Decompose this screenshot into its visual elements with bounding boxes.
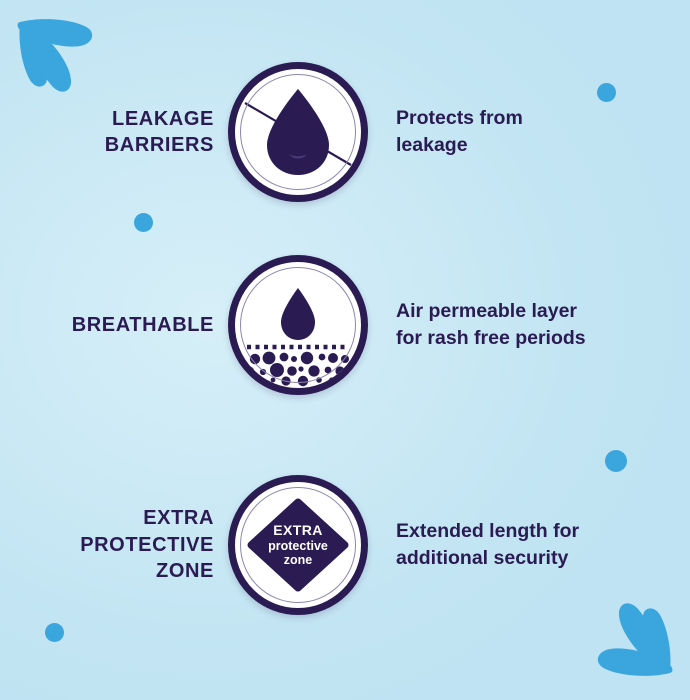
feature-description-line: for rash free periods: [396, 325, 690, 352]
feature-label-breathable: BREATHABLE: [0, 312, 228, 338]
feature-description-line: Extended length for: [396, 518, 690, 545]
badge-circle: EXTRA protective zone: [228, 475, 368, 615]
feature-label-extra-protective-zone: EXTRA PROTECTIVE ZONE: [0, 505, 228, 584]
feature-label-line: EXTRA: [0, 505, 214, 531]
feature-label-line: PROTECTIVE: [0, 532, 214, 558]
feature-label-line: LEAKAGE: [0, 106, 214, 132]
feature-icon-badge-breathable: [228, 255, 368, 395]
breathable-layer-icon: [235, 262, 361, 388]
feature-label-leakage-barriers: LEAKAGE BARRIERS: [0, 106, 228, 159]
feature-label-line: BREATHABLE: [0, 312, 214, 338]
feature-label-line: BARRIERS: [0, 132, 214, 158]
feature-description-leakage-barriers: Protects from leakage: [368, 105, 690, 159]
badge-circle: [228, 255, 368, 395]
feature-poster: LEAKAGE BARRIERS: [0, 0, 690, 700]
feature-description-line: Air permeable layer: [396, 298, 690, 325]
feature-row-extra-protective-zone: EXTRA PROTECTIVE ZONE EXTRA protective z…: [0, 475, 690, 615]
feature-icon-badge-extra-protective-zone: EXTRA protective zone: [228, 475, 368, 615]
feature-description-line: leakage: [396, 132, 690, 159]
badge-circle: [228, 62, 368, 202]
feature-list: LEAKAGE BARRIERS: [0, 0, 690, 700]
feature-row-breathable: BREATHABLE: [0, 255, 690, 395]
crossed-water-drop-icon: [235, 69, 361, 195]
extra-protective-zone-diamond-icon: EXTRA protective zone: [235, 482, 361, 608]
feature-description-breathable: Air permeable layer for rash free period…: [368, 298, 690, 352]
feature-description-extra-protective-zone: Extended length for additional security: [368, 518, 690, 572]
feature-icon-badge-leakage-barriers: [228, 62, 368, 202]
feature-row-leakage-barriers: LEAKAGE BARRIERS: [0, 62, 690, 202]
feature-label-line: ZONE: [0, 558, 214, 584]
feature-description-line: additional security: [396, 545, 690, 572]
feature-description-line: Protects from: [396, 105, 690, 132]
